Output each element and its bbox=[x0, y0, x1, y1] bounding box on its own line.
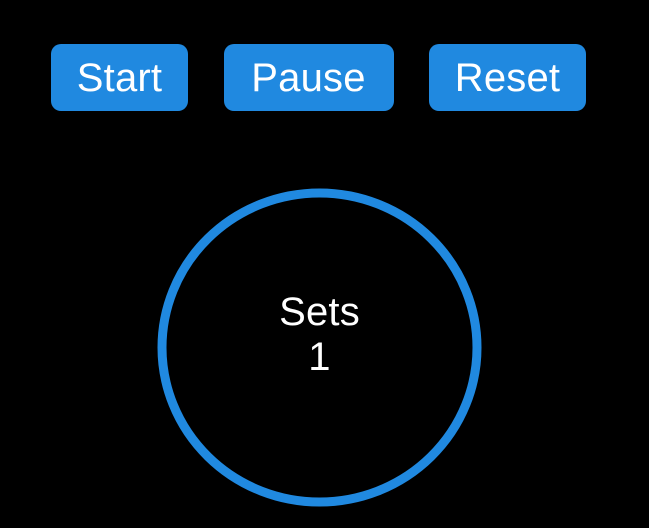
start-button[interactable]: Start bbox=[51, 44, 188, 111]
control-bar: Start Pause Reset bbox=[51, 44, 586, 111]
progress-ring-icon bbox=[157, 188, 482, 507]
sets-timer-circle: Sets 1 bbox=[157, 188, 482, 507]
pause-button[interactable]: Pause bbox=[224, 44, 394, 111]
timer-app-root: Start Pause Reset Sets 1 bbox=[0, 0, 649, 528]
reset-button[interactable]: Reset bbox=[429, 44, 586, 111]
progress-ring-track bbox=[162, 193, 477, 502]
